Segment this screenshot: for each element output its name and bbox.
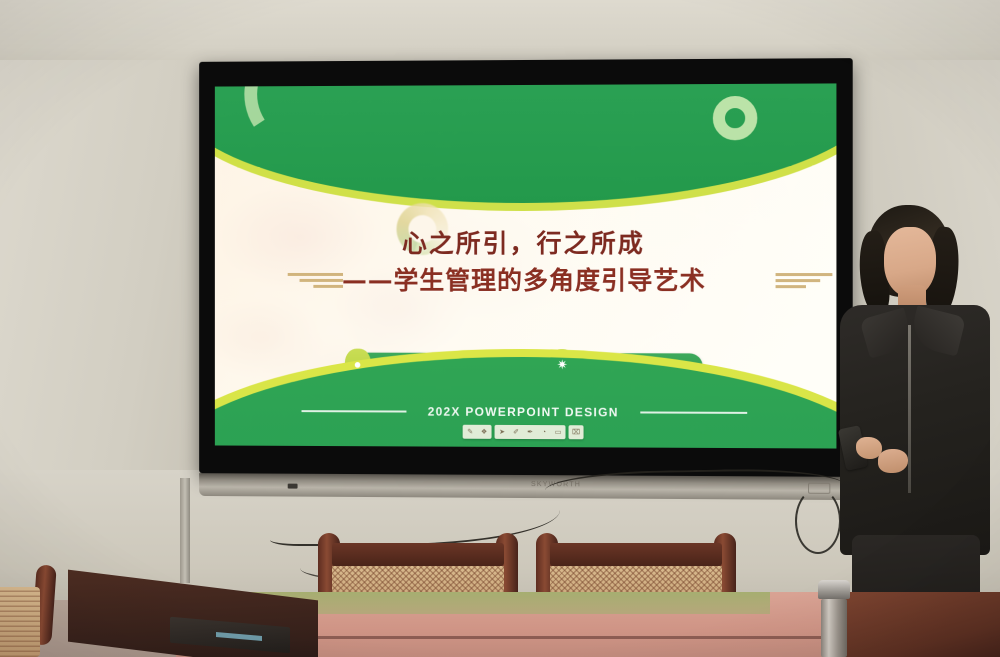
presenter-jacket: [840, 305, 990, 555]
slide-title-block: 心之所引，行之所成 ——学生管理的多角度引导艺术: [215, 227, 837, 300]
palette-icon[interactable]: ❖: [478, 426, 491, 438]
toolbar-group-right[interactable]: ⌧: [569, 425, 584, 439]
chair-foreground-left: [0, 565, 76, 657]
highlighter-icon[interactable]: ✒: [523, 426, 536, 438]
room-scene: 心之所引，行之所成 ——学生管理的多角度引导艺术 ● 汇报人：陈婷: [0, 0, 1000, 657]
toolbar-group-left[interactable]: ✎ ❖: [463, 425, 492, 439]
slide-title-main: 心之所引，行之所成: [215, 227, 837, 261]
slide-title-sub: ——学生管理的多角度引导艺术: [215, 263, 837, 300]
header-ring-icon: [713, 96, 757, 140]
presenter-hand-right: [878, 449, 908, 473]
chair-top-rail: [550, 543, 722, 566]
toolbar-group-main[interactable]: ➤ ✐ ✒ ◔ ▭: [495, 425, 566, 439]
shape-icon[interactable]: ▭: [552, 426, 565, 438]
pencil-icon[interactable]: ✐: [510, 426, 523, 438]
thermos-lid: [818, 580, 850, 599]
cursor-icon[interactable]: ➤: [496, 426, 509, 438]
presenter-jacket-zipper: [908, 325, 911, 493]
eraser-icon[interactable]: ◔: [537, 426, 550, 438]
thermos-bottle: [818, 580, 850, 657]
display-wall-mount: [180, 478, 190, 583]
table-foreground-right: [840, 592, 1000, 657]
interactive-display[interactable]: 心之所引，行之所成 ——学生管理的多角度引导艺术 ● 汇报人：陈婷: [199, 58, 853, 477]
footer-caption: 202X POWERPOINT DESIGN: [215, 404, 837, 420]
display-screen[interactable]: 心之所引，行之所成 ——学生管理的多角度引导艺术 ● 汇报人：陈婷: [215, 83, 837, 448]
annotation-toolbar[interactable]: ✎ ❖ ➤ ✐ ✒ ◔ ▭ ⌧: [463, 425, 584, 440]
pen-tool-icon[interactable]: ✎: [464, 426, 477, 438]
chair-fg-cane: [0, 587, 40, 657]
delete-icon[interactable]: ⌧: [570, 426, 583, 438]
thermos-body: [821, 599, 847, 657]
table-green-strip: [250, 592, 770, 614]
powerpoint-title-slide[interactable]: 心之所引，行之所成 ——学生管理的多角度引导艺术 ● 汇报人：陈婷: [215, 83, 837, 448]
chair-top-rail: [332, 543, 504, 566]
